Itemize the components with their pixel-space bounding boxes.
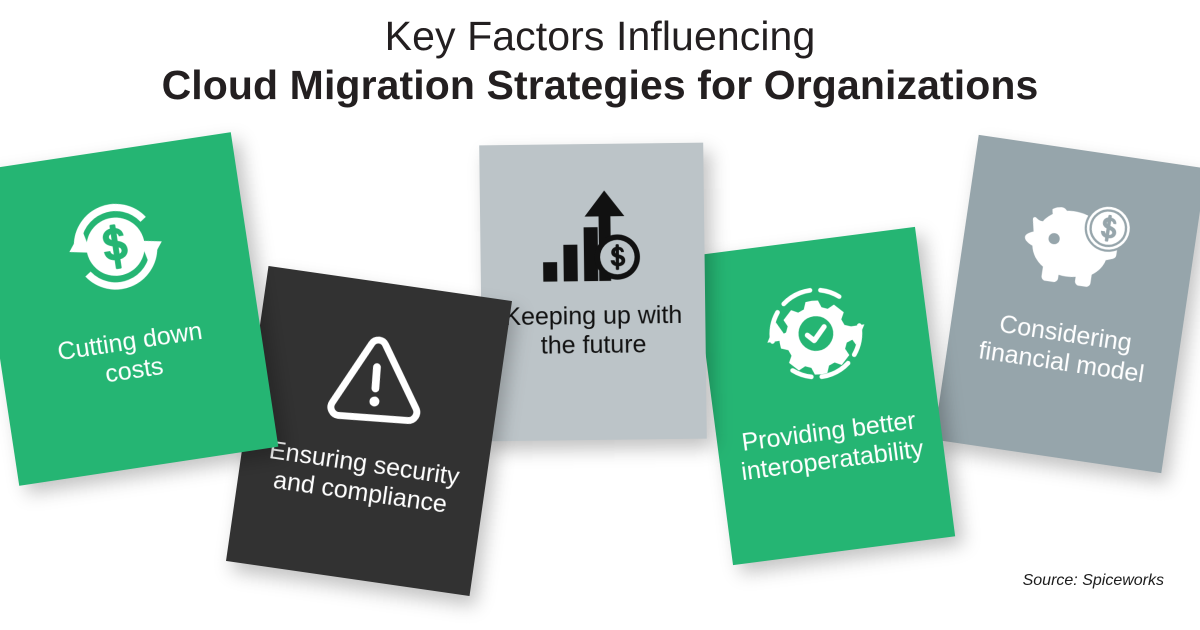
title-line-1: Key Factors Influencing bbox=[0, 14, 1200, 60]
card-cutting-down-costs[interactable]: Cutting down costs bbox=[0, 132, 278, 486]
growth-chart-dollar-icon bbox=[480, 181, 705, 296]
source-attribution: Source: Spiceworks bbox=[1023, 572, 1164, 590]
dollar-refresh-icon bbox=[0, 168, 254, 326]
gear-check-refresh-icon bbox=[697, 261, 934, 407]
warning-triangle-icon bbox=[247, 308, 506, 454]
title-line-2: Cloud Migration Strategies for Organizat… bbox=[0, 60, 1200, 110]
card-considering-financial-model[interactable]: Considering financial model bbox=[934, 135, 1200, 473]
card-label-keeping-up-with-the-future: Keeping up with the future bbox=[487, 301, 700, 362]
card-label-cutting-down-costs: Cutting down costs bbox=[4, 309, 260, 404]
page-title: Key Factors Influencing Cloud Migration … bbox=[0, 14, 1200, 110]
piggy-bank-dollar-icon bbox=[957, 174, 1200, 318]
card-keeping-up-with-the-future[interactable]: Keeping up with the future bbox=[479, 143, 707, 442]
card-providing-better-interoperatability[interactable]: Providing better interoperatability bbox=[693, 227, 955, 565]
infographic-canvas: Key Factors Influencing Cloud Migration … bbox=[0, 0, 1200, 630]
card-label-considering-financial-model: Considering financial model bbox=[951, 304, 1175, 394]
card-label-providing-better-interoperatability: Providing better interoperatability bbox=[722, 404, 940, 489]
